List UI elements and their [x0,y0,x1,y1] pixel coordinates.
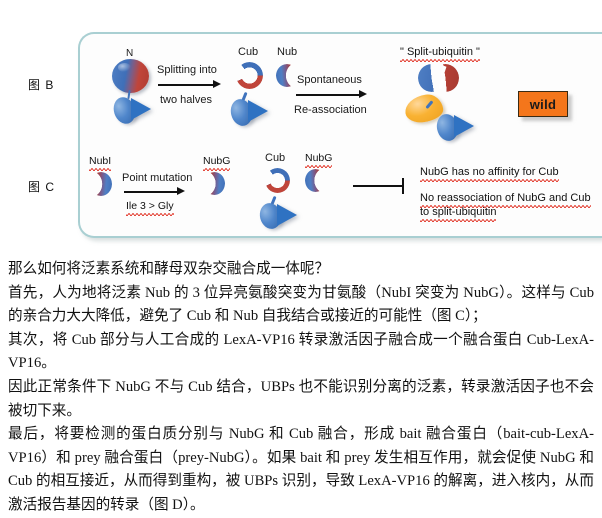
paragraph: 那么如何将泛素系统和酵母双杂交融合成一体呢？ [8,258,594,282]
cub-molecule-icon [265,168,290,193]
mutation-arrow-icon [124,187,186,197]
inhibition-bar-icon [353,178,407,194]
label-cub-b: Cub [238,46,258,58]
note-no-reassociation-line2: to split-ubiquitin [420,206,496,222]
panel-c-row-label: 图 C [28,178,55,195]
wild-type-badge-label: wild [530,97,556,112]
arrow2-label-bottom: Re-association [294,104,367,116]
reporter-triangle-icon [277,204,297,226]
label-n-terminus: N [126,48,133,59]
cub-molecule-icon [236,62,263,89]
reporter-triangle-icon [248,100,268,122]
reporter-triangle-icon [454,115,474,137]
label-cub-c: Cub [265,152,285,164]
label-split-ubiquitin-text: " Split-ubiquitin " [400,46,480,62]
label-nubi: NubI [89,155,111,171]
arrow1-label-top: Splitting into [157,64,217,76]
nubg-molecule-icon [204,172,225,195]
ubiquitin-molecule-icon [112,59,149,93]
label-nubg-c: NubG [305,152,332,168]
paragraph: 其次，将 Cub 部分与人工合成的 LexA-VP16 转录激活因子融合成一个融… [8,329,594,376]
arrow2-label-top: Spontaneous [297,74,362,86]
paragraph: 最后，将要检测的蛋白质分别与 NubG 和 Cub 融合，形成 bait 融合蛋… [8,423,594,517]
mutation-arrow-label-top: Point mutation [122,172,192,184]
mutation-arrow-label-bottom: Ile 3 > Gly [126,200,174,216]
note-no-affinity: NubG has no affinity for Cub [420,166,559,182]
panel-b-row-label: 图 B [28,76,54,93]
label-nub-b: Nub [277,46,297,58]
label-nubg-mutant: NubG [203,155,230,171]
nubg-molecule-icon [305,169,326,192]
article-body: 那么如何将泛素系统和酵母双杂交融合成一体呢？ 首先，人为地将泛素 Nub 的 3… [8,258,594,518]
reporter-triangle-icon [131,98,151,120]
nub-molecule-icon [276,64,298,87]
splitting-arrow-icon [158,80,222,90]
reassociation-arrow-icon [296,90,368,100]
label-split-ubiquitin: " Split-ubiquitin " [400,46,480,62]
wild-type-badge: wild [518,91,568,117]
arrow1-label-bottom: two halves [160,94,212,106]
paragraph: 因此正常条件下 NubG 不与 Cub 结合，UBPs 也不能识别分离的泛素，转… [8,376,594,423]
figure-split-ubiquitin: 图 B N Splitting into two halves Cub Nub … [0,0,602,252]
paragraph: 首先，人为地将泛素 Nub 的 3 位异亮氨酸突变为甘氨酸（NubI 突变为 N… [8,282,594,329]
nubi-molecule-icon [90,172,112,196]
